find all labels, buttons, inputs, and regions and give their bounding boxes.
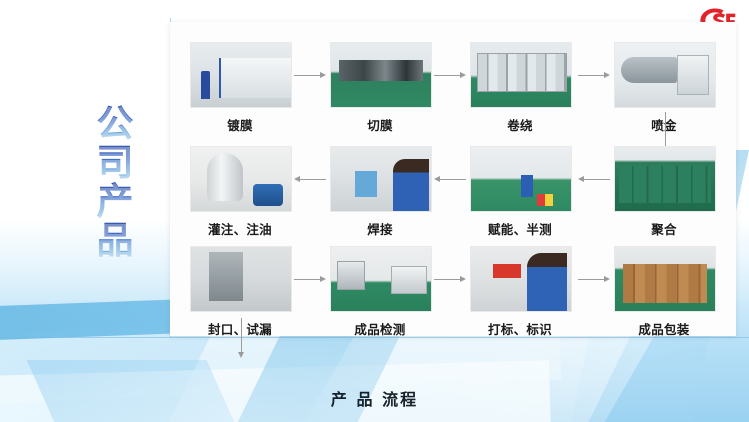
flow-row-2: 灌注、注油 焊接 赋能、半测 聚合 — [182, 146, 724, 242]
welding-worker-photo — [330, 146, 432, 212]
metal-spraying-equipment-photo — [614, 42, 716, 108]
page-title-char-0: 公 — [97, 104, 134, 143]
energizing-and-half-test-photo — [470, 146, 572, 212]
page-title-vertical: 公 司 产 品 — [84, 104, 146, 260]
flow-row-1: 镀膜 切膜 卷绕 喷金 — [182, 42, 724, 138]
flow-arrow-left — [578, 174, 610, 184]
bottom-caption: 产 品 流程 — [0, 386, 749, 410]
flow-step-filling-oiling[interactable]: 灌注、注油 — [190, 146, 290, 238]
filling-and-oiling-tank-photo — [190, 146, 292, 212]
flow-arrow-right — [294, 274, 326, 284]
flow-step-label: 切膜 — [330, 115, 430, 134]
flow-step-packing[interactable]: 成品包装 — [614, 246, 714, 338]
flow-step-marking-labeling[interactable]: 打标、标识 — [470, 246, 570, 338]
slide-canvas: R 公 司 产 品 镀膜 切膜 — [0, 0, 749, 422]
flow-step-label: 打标、标识 — [470, 319, 570, 338]
flow-step-coating[interactable]: 镀膜 — [190, 42, 290, 134]
finished-product-inspection-photo — [330, 246, 432, 312]
flow-step-label: 成品检测 — [330, 319, 430, 338]
flow-row-3: 封口、试漏 成品检测 打标、标识 成品包装 — [182, 246, 724, 342]
page-title-char-1: 司 — [97, 143, 134, 182]
flow-arrow-left — [294, 174, 326, 184]
flow-arrow-right — [578, 274, 610, 284]
flow-step-sealing-leaktest[interactable]: 封口、试漏 — [190, 246, 290, 338]
polymerization-ovens-photo — [614, 146, 716, 212]
coating-machine-photo — [190, 42, 292, 108]
flow-arrow-right — [434, 70, 466, 80]
sealing-and-leak-test-photo — [190, 246, 292, 312]
flow-arrow-left — [434, 174, 466, 184]
flow-step-polymerization[interactable]: 聚合 — [614, 146, 714, 238]
flow-step-final-inspection[interactable]: 成品检测 — [330, 246, 430, 338]
page-title-char-2: 产 — [97, 182, 134, 221]
film-cutting-line-photo — [330, 42, 432, 108]
flow-arrow-right — [434, 274, 466, 284]
flow-step-label: 封口、试漏 — [190, 319, 290, 338]
flow-arrow-right — [294, 70, 326, 80]
flow-step-winding[interactable]: 卷绕 — [470, 42, 570, 134]
flow-step-label: 焊接 — [330, 219, 430, 238]
flow-step-label: 赋能、半测 — [470, 219, 570, 238]
flow-step-label: 聚合 — [614, 219, 714, 238]
flow-step-label: 成品包装 — [614, 319, 714, 338]
winding-machines-photo — [470, 42, 572, 108]
flow-step-label: 灌注、注油 — [190, 219, 290, 238]
flow-step-label: 镀膜 — [190, 115, 290, 134]
flow-step-label: 卷绕 — [470, 115, 570, 134]
flow-arrow-right — [578, 70, 610, 80]
flow-step-film-cutting[interactable]: 切膜 — [330, 42, 430, 134]
process-flow-panel: 镀膜 切膜 卷绕 喷金 — [170, 22, 736, 336]
flow-step-welding[interactable]: 焊接 — [330, 146, 430, 238]
flow-step-energizing-halftest[interactable]: 赋能、半测 — [470, 146, 570, 238]
marking-and-labeling-photo — [470, 246, 572, 312]
finished-product-packing-photo — [614, 246, 716, 312]
page-title-char-3: 品 — [97, 221, 134, 260]
